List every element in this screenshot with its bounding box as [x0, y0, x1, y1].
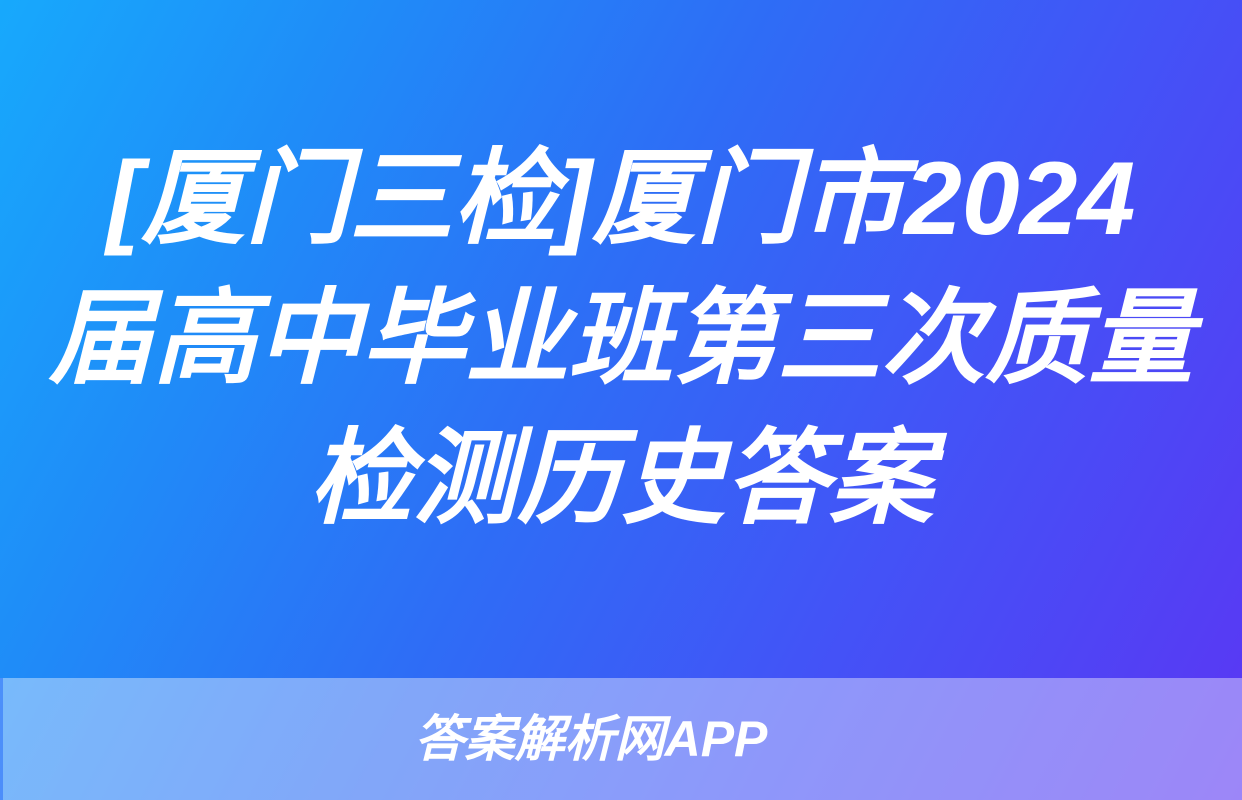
title-line-3: 检测历史答案	[48, 409, 1194, 549]
title-line-1: [厦门三检]厦门市2024	[48, 129, 1194, 269]
title-line-2: 届高中毕业班第三次质量	[48, 269, 1194, 409]
footer-watermark-bar: 答案解析网APP	[0, 678, 1242, 800]
footer-left-accent-stripe	[0, 678, 3, 800]
brand-watermark-label: 答案解析网APP	[415, 714, 768, 764]
title-block: [厦门三检]厦门市2024 届高中毕业班第三次质量 检测历史答案	[0, 0, 1242, 678]
poster-canvas: [厦门三检]厦门市2024 届高中毕业班第三次质量 检测历史答案 答案解析网AP…	[0, 0, 1242, 800]
